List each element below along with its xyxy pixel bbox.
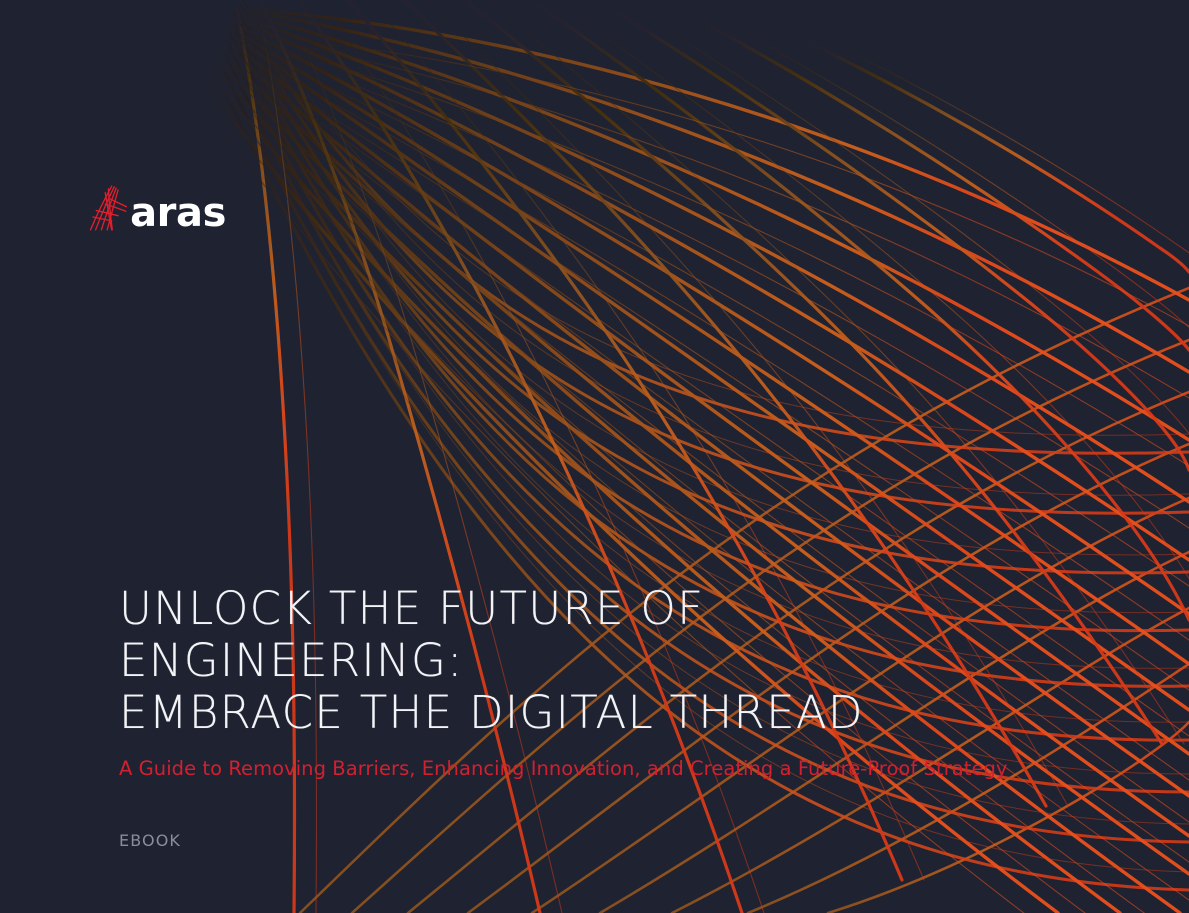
document-type-label: EBOOK xyxy=(119,831,181,850)
ebook-cover-page: aras UNLOCK THE FUTURE OF ENGINEERING: E… xyxy=(0,0,1189,913)
aras-wordmark: aras xyxy=(130,193,226,233)
page-subtitle: A Guide to Removing Barriers, Enhancing … xyxy=(119,756,1019,782)
cover-text-block: UNLOCK THE FUTURE OF ENGINEERING: EMBRAC… xyxy=(119,583,1019,782)
aras-a-mark-icon xyxy=(86,172,127,244)
aras-logo: aras xyxy=(86,172,226,244)
page-title: UNLOCK THE FUTURE OF ENGINEERING: EMBRAC… xyxy=(119,583,1019,739)
